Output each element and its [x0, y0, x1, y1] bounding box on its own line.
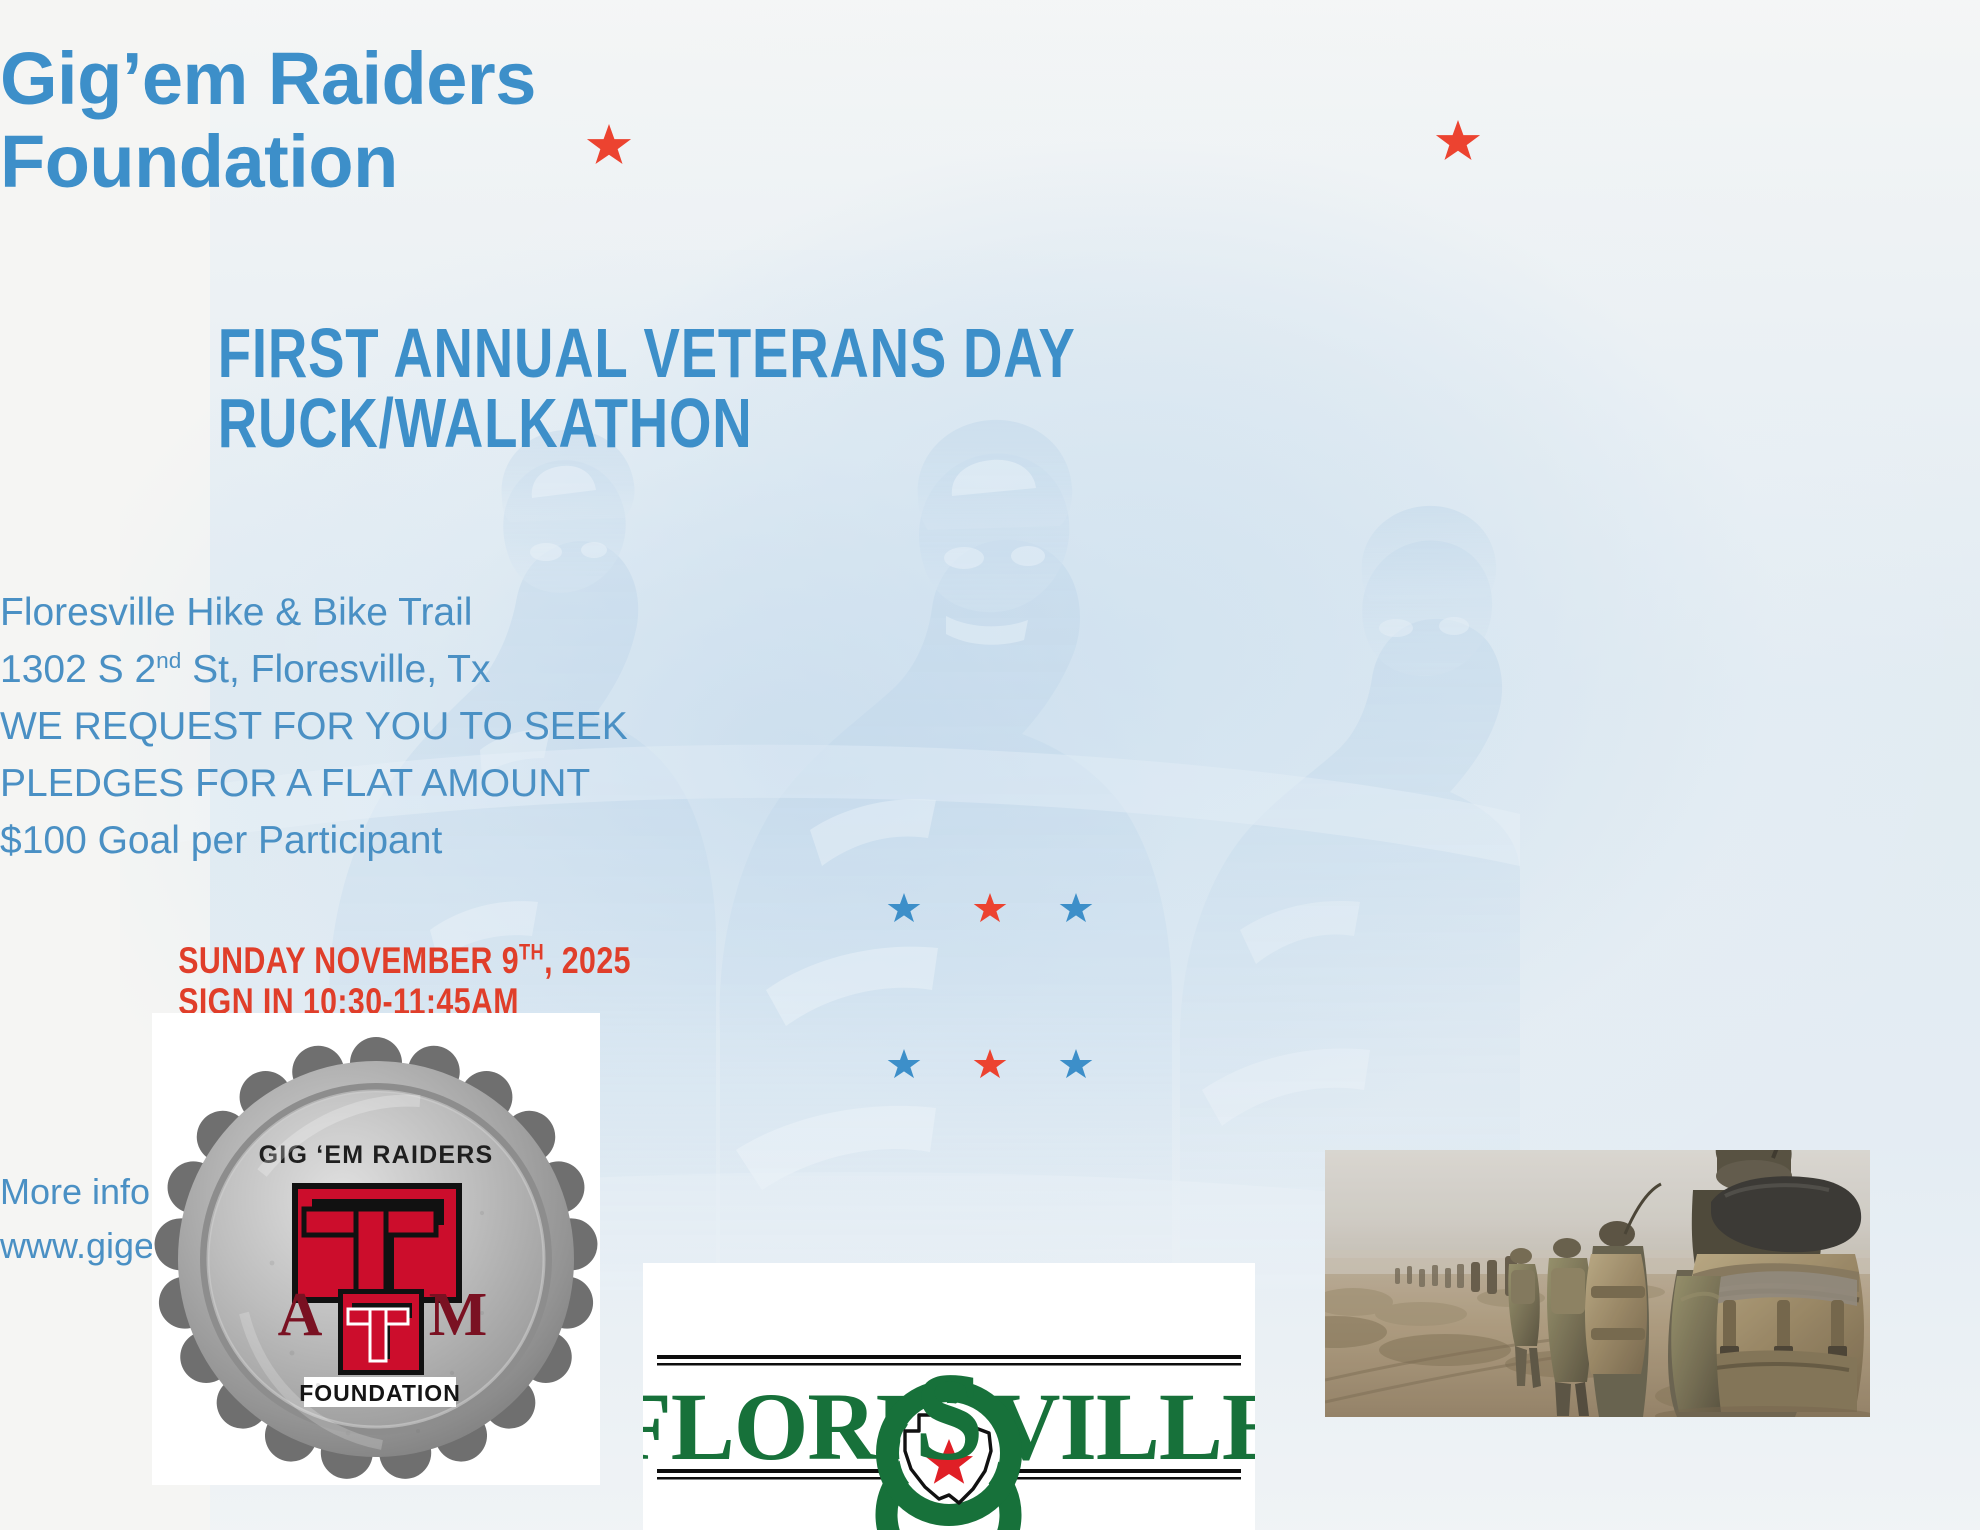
address-post: St, Floresville, Tx — [181, 648, 490, 691]
detail-pledge-request-1: WE REQUEST FOR YOU TO SEEK — [0, 699, 1980, 756]
star-row-top — [0, 893, 1980, 925]
event-title: FIRST ANNUAL VETERANS DAY RUCK/WALKATHON — [218, 318, 1762, 458]
org-title-line1: Gig’em Raiders — [0, 37, 536, 120]
poster-canvas: Gig’em Raiders Foundation FIRST ANNUAL V… — [0, 0, 1980, 1530]
floresville-logo: FLORESVILLE S — [643, 1263, 1255, 1530]
star-icon-red — [973, 893, 1007, 925]
soldiers-rucking-photo — [1325, 1150, 1870, 1417]
texas-tech-lower-t-mark — [338, 1289, 424, 1375]
bottlecap-letter-m: M — [429, 1281, 488, 1349]
date-post: , 2025 — [544, 940, 631, 981]
address-pre: 1302 S 2 — [0, 648, 156, 691]
detail-goal: $100 Goal per Participant — [0, 813, 1980, 870]
detail-pledge-request-2: PLEDGES FOR A FLAT AMOUNT — [0, 756, 1980, 813]
bottlecap-letter-a: A — [278, 1281, 323, 1349]
date-pre: SUNDAY NOVEMBER 9 — [178, 940, 519, 981]
star-icon-blue — [887, 893, 921, 925]
star-icon-blue — [887, 1049, 921, 1081]
gigem-raiders-foundation-logo: GIG ‘EM RAIDERS A M — [152, 1013, 600, 1485]
detail-address: 1302 S 2nd St, Floresville, Tx — [0, 642, 1980, 699]
star-icon-blue — [1059, 893, 1093, 925]
organization-title: Gig’em Raiders Foundation — [0, 38, 1980, 204]
star-icon-red — [973, 1049, 1007, 1081]
detail-venue: Floresville Hike & Bike Trail — [0, 585, 1980, 642]
address-ordinal: nd — [156, 648, 181, 673]
date-ordinal: TH — [519, 940, 544, 965]
org-title-line2: Foundation — [0, 120, 398, 203]
event-title-line1: FIRST ANNUAL VETERANS DAY — [218, 314, 1076, 392]
star-icon-blue — [1059, 1049, 1093, 1081]
bottlecap-bottom-text: FOUNDATION — [299, 1380, 461, 1406]
datetime-date: SUNDAY NOVEMBER 9TH, 2025 — [178, 940, 1802, 981]
event-details: Floresville Hike & Bike Trail 1302 S 2nd… — [0, 585, 1980, 870]
event-title-line2: RUCK/WALKATHON — [218, 388, 1762, 458]
floresville-s-letter: S — [914, 1348, 984, 1487]
